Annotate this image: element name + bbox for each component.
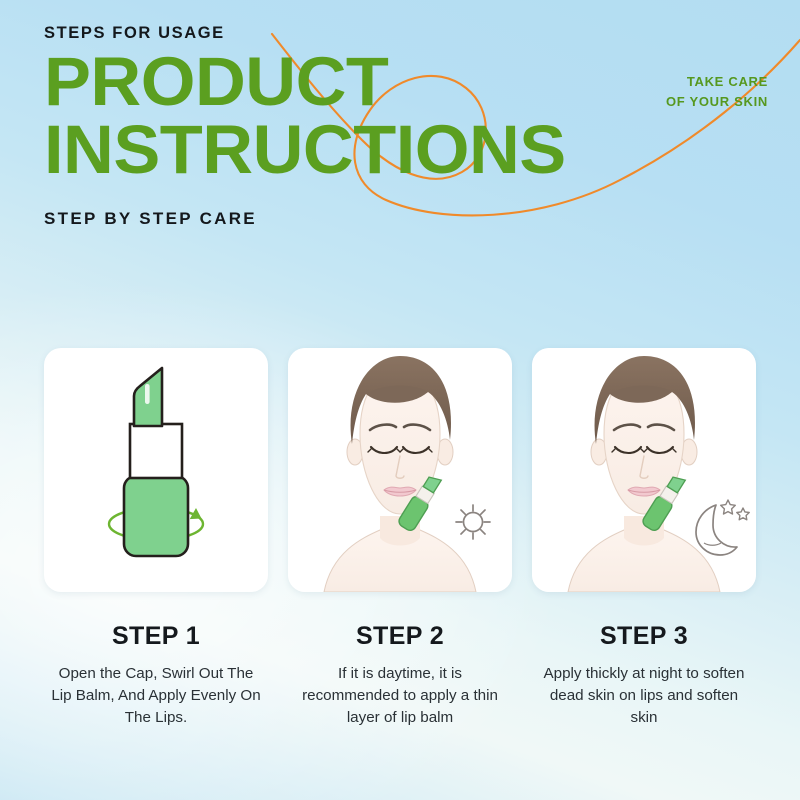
product-instructions-poster: STEPS FOR USAGE PRODUCT INSTRUCTIONS STE… [0, 0, 800, 800]
step-card-3[interactable] [532, 348, 756, 592]
subtitle-text: STEP BY STEP CARE [44, 209, 784, 229]
step-label-1: STEP 1 [112, 622, 200, 651]
step-column-1: STEP 1 Open the Cap, Swirl Out The Lip B… [44, 348, 268, 729]
page-title-line-1: PRODUCT [44, 43, 388, 120]
page-title: PRODUCT INSTRUCTIONS [44, 49, 799, 183]
lipstick-rotating-icon [44, 348, 268, 592]
step-card-2[interactable] [288, 348, 512, 592]
tagline: TAKE CARE OF YOUR SKIN [666, 72, 768, 112]
tagline-line-1: TAKE CARE [666, 72, 768, 92]
woman-applying-balm-night-icon [532, 348, 756, 592]
step-card-1[interactable] [44, 348, 268, 592]
step-description-3: Apply thickly at night to soften dead sk… [537, 663, 751, 729]
step-description-1: Open the Cap, Swirl Out The Lip Balm, An… [49, 663, 263, 729]
page-title-line-2: INSTRUCTIONS [44, 117, 799, 183]
step-cards-row: STEP 1 Open the Cap, Swirl Out The Lip B… [44, 348, 756, 729]
step-description-2: If it is daytime, it is recommended to a… [293, 663, 507, 729]
step-label-2: STEP 2 [356, 622, 444, 651]
woman-applying-balm-day-icon [288, 348, 512, 592]
step-column-2: STEP 2 If it is daytime, it is recommend… [288, 348, 512, 729]
eyebrow-text: STEPS FOR USAGE [44, 24, 784, 43]
tagline-line-2: OF YOUR SKIN [666, 92, 768, 112]
step-column-3: STEP 3 Apply thickly at night to soften … [532, 348, 756, 729]
poster-header: STEPS FOR USAGE PRODUCT INSTRUCTIONS STE… [44, 24, 784, 229]
step-label-3: STEP 3 [600, 622, 688, 651]
